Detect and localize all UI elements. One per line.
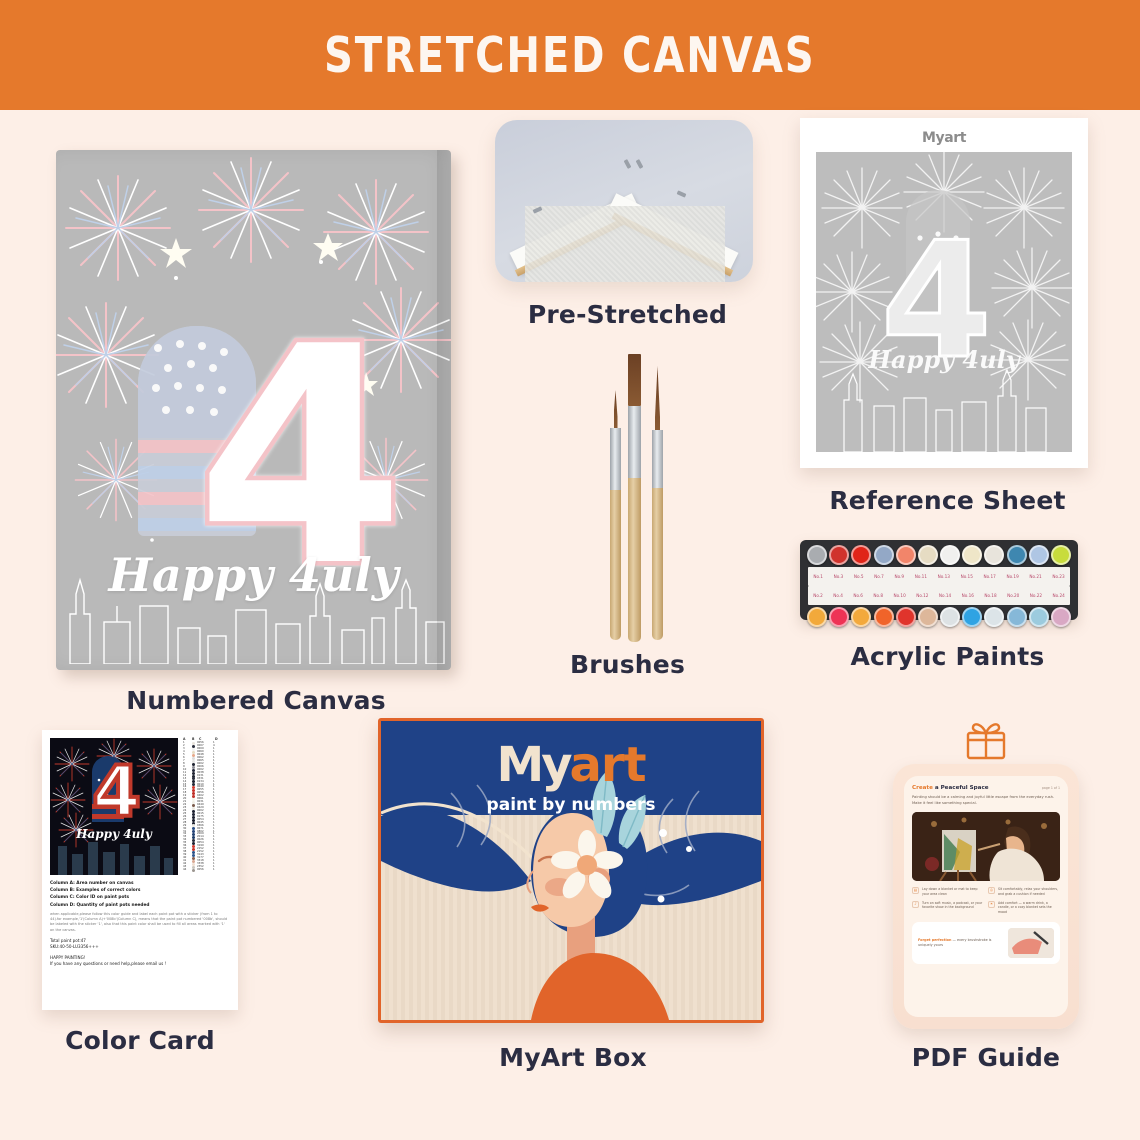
paint-label: No.20 bbox=[1007, 593, 1019, 598]
gift-icon bbox=[962, 718, 1010, 760]
color-card-image: 4 Happy 4uly A B C D 1005612000743000914… bbox=[42, 730, 238, 1010]
color-card-caption: Color Card bbox=[42, 1026, 238, 1055]
tip-icon: ◎ bbox=[988, 887, 995, 894]
paint-label: No.4 bbox=[833, 593, 843, 598]
paint-label: No.17 bbox=[984, 574, 996, 579]
staple-icon bbox=[677, 190, 687, 197]
tip-icon: ♪ bbox=[912, 901, 919, 908]
paint-label: No.9 bbox=[894, 574, 904, 579]
paint-label: No.10 bbox=[893, 593, 905, 598]
pdf-guide-caption: PDF Guide bbox=[893, 1043, 1079, 1072]
reference-sheet-caption: Reference Sheet bbox=[800, 486, 1095, 515]
numbered-canvas-item[interactable]: 4 Happy 4uly bbox=[56, 150, 456, 680]
myart-box-image: Myart paint by numbers bbox=[378, 718, 764, 1023]
cell-quantity: 1 bbox=[213, 869, 215, 872]
pre-stretched-image bbox=[495, 120, 753, 282]
pdf-guide-item[interactable]: Create a Peaceful Space page 1 of 1 Pain… bbox=[893, 718, 1103, 1088]
color-card-greeting: Happy 4uly bbox=[50, 827, 178, 841]
paint-row-bottom bbox=[804, 607, 1074, 627]
pdf-tip-item: ◎Sit comfortably, relax your shoulders, … bbox=[988, 887, 1060, 896]
cell-color-swatch bbox=[192, 869, 195, 872]
pdf-heading-accent: Create bbox=[912, 785, 933, 791]
paint-pot[interactable] bbox=[1051, 545, 1071, 565]
reference-sheet-logo: Myart bbox=[816, 130, 1072, 146]
paint-tray-image: No.1No.3No.5No.7No.9No.11No.13No.15No.17… bbox=[800, 540, 1078, 620]
paint-label: No.8 bbox=[873, 593, 883, 598]
paint-pot[interactable] bbox=[1007, 545, 1027, 565]
paint-pot[interactable] bbox=[1029, 545, 1049, 565]
paint-label: No.16 bbox=[962, 593, 974, 598]
paint-label: No.22 bbox=[1030, 593, 1042, 598]
color-card-table: A B C D 10056120007430009140060150048160… bbox=[183, 738, 230, 875]
paint-label: No.15 bbox=[961, 574, 973, 579]
paint-pot[interactable] bbox=[851, 607, 871, 627]
legend-line-c: Column C: Color ID on paint pots bbox=[50, 895, 129, 900]
paint-pot[interactable] bbox=[984, 607, 1004, 627]
legend-line-a: Column A: Area number on canvas bbox=[50, 881, 134, 886]
paint-label: No.5 bbox=[854, 574, 864, 579]
color-card-table-head: A B C D bbox=[183, 738, 230, 741]
legend-line-b: Column B: Examples of correct colors bbox=[50, 888, 140, 893]
paint-label: No.24 bbox=[1053, 593, 1065, 598]
tip-icon: ☀ bbox=[988, 901, 995, 908]
col-header-d: D bbox=[215, 738, 218, 741]
paint-pot[interactable] bbox=[918, 607, 938, 627]
legend-line-d: Column D: Quantity of paint pots needed bbox=[50, 903, 149, 908]
myart-logo: Myart paint by numbers bbox=[381, 737, 761, 815]
brush-small bbox=[610, 390, 621, 640]
logo-art-text: art bbox=[570, 737, 646, 793]
pdf-footer-note: Forget perfection — every brushstroke is… bbox=[912, 922, 1060, 964]
color-card-row: 4400561 bbox=[183, 869, 230, 872]
pdf-tips-grid: ▤Lay down a blanket or mat to keep your … bbox=[912, 887, 1060, 914]
product-grid: 4 Happy 4uly bbox=[0, 110, 1140, 1140]
paint-pot[interactable] bbox=[1051, 607, 1071, 627]
pdf-heading-rest: a Peaceful Space bbox=[935, 785, 989, 791]
paint-label: No.7 bbox=[874, 574, 884, 579]
myart-box-item[interactable]: Myart paint by numbers MyArt Box bbox=[378, 718, 768, 1088]
brush-flat bbox=[628, 354, 641, 642]
myart-box-caption: MyArt Box bbox=[378, 1043, 768, 1072]
reference-sheet-greeting: Happy 4uly bbox=[816, 345, 1072, 374]
pre-stretched-item[interactable]: Pre-Stretched bbox=[495, 120, 760, 320]
paint-pot[interactable] bbox=[829, 545, 849, 565]
pdf-guide-image: Create a Peaceful Space page 1 of 1 Pain… bbox=[893, 764, 1079, 1029]
paint-pot[interactable] bbox=[874, 607, 894, 627]
paint-label: No.2 bbox=[813, 593, 823, 598]
skyline-motif bbox=[56, 544, 451, 664]
paint-pot[interactable] bbox=[1029, 607, 1049, 627]
color-card-artwork: 4 Happy 4uly bbox=[50, 738, 178, 875]
tip-text: Lay down a blanket or mat to keep your a… bbox=[922, 887, 984, 896]
color-card-note: when applicable,please follow this color… bbox=[50, 912, 230, 933]
pdf-page-label: page 1 of 1 bbox=[1042, 786, 1060, 790]
brush-liner bbox=[652, 366, 663, 640]
myart-tagline: paint by numbers bbox=[381, 795, 761, 815]
tip-text: Sit comfortably, relax your shoulders, a… bbox=[998, 887, 1060, 896]
paint-pot[interactable] bbox=[829, 607, 849, 627]
paint-label-strip-top: No.1No.3No.5No.7No.9No.11No.13No.15No.17… bbox=[808, 567, 1070, 586]
brushes-image bbox=[500, 340, 755, 640]
paint-pot[interactable] bbox=[918, 545, 938, 565]
paint-row-top bbox=[804, 545, 1074, 565]
color-card-item[interactable]: 4 Happy 4uly A B C D 1005612000743000914… bbox=[42, 730, 272, 1090]
color-card-number: 4 bbox=[92, 757, 141, 827]
paint-pot[interactable] bbox=[896, 545, 916, 565]
pdf-body-text: Painting should be a calming and joyful … bbox=[912, 795, 1060, 806]
paint-pot[interactable] bbox=[807, 545, 827, 565]
pdf-photo bbox=[912, 812, 1060, 881]
pre-stretched-caption: Pre-Stretched bbox=[495, 300, 760, 329]
paint-label: No.11 bbox=[915, 574, 927, 579]
paint-pot[interactable] bbox=[874, 545, 894, 565]
pdf-footer-image bbox=[1008, 928, 1054, 958]
pdf-tip-item: ☀Add comfort — a warm drink, a candle, o… bbox=[988, 901, 1060, 915]
paint-pot[interactable] bbox=[1007, 607, 1027, 627]
tip-text: Turn on soft music, a podcast, or your f… bbox=[922, 901, 984, 915]
paint-label: No.18 bbox=[984, 593, 996, 598]
paint-pot[interactable] bbox=[807, 607, 827, 627]
paint-label: No.12 bbox=[916, 593, 928, 598]
reference-sheet-item[interactable]: Myart bbox=[800, 118, 1095, 498]
reference-sheet-image: Myart bbox=[800, 118, 1088, 468]
paint-pot[interactable] bbox=[940, 607, 960, 627]
paint-pot[interactable] bbox=[962, 607, 982, 627]
paint-label: No.23 bbox=[1052, 574, 1064, 579]
paint-label: No.14 bbox=[939, 593, 951, 598]
pdf-footer-accent: Forget perfection bbox=[918, 938, 951, 942]
paint-label: No.19 bbox=[1006, 574, 1018, 579]
paint-pot[interactable] bbox=[851, 545, 871, 565]
numbered-canvas-caption: Numbered Canvas bbox=[56, 686, 456, 715]
acrylic-paints-caption: Acrylic Paints bbox=[800, 642, 1095, 671]
paint-label: No.21 bbox=[1029, 574, 1041, 579]
logo-my-text: My bbox=[496, 737, 569, 793]
paint-pot[interactable] bbox=[962, 545, 982, 565]
color-card-legend: Column A: Area number on canvas Column B… bbox=[50, 880, 230, 909]
paint-label: No.3 bbox=[834, 574, 844, 579]
tip-icon: ▤ bbox=[912, 887, 919, 894]
numbered-canvas-image: 4 Happy 4uly bbox=[56, 150, 451, 670]
staple-icon bbox=[636, 159, 644, 169]
pdf-tip-item: ▤Lay down a blanket or mat to keep your … bbox=[912, 887, 984, 896]
page-title: STRETCHED CANVAS bbox=[324, 27, 816, 84]
paint-label: No.6 bbox=[853, 593, 863, 598]
cell-area-number: 44 bbox=[183, 869, 190, 872]
cell-color-id: 0056 bbox=[197, 869, 211, 872]
brushes-caption: Brushes bbox=[500, 650, 755, 679]
color-card-sku: SKU:40-50-LU3356+++ bbox=[50, 944, 230, 950]
page-header: STRETCHED CANVAS bbox=[0, 0, 1140, 110]
paint-label-strip-bottom: No.2No.4No.6No.8No.10No.12No.14No.16No.1… bbox=[808, 586, 1070, 605]
pdf-heading-row: Create a Peaceful Space page 1 of 1 bbox=[912, 785, 1060, 791]
paint-pot[interactable] bbox=[984, 545, 1004, 565]
staple-icon bbox=[624, 159, 632, 169]
color-card-contact: If you have any questions or need help,p… bbox=[50, 961, 230, 967]
tip-text: Add comfort — a warm drink, a candle, or… bbox=[998, 901, 1060, 915]
paint-label: No.1 bbox=[813, 574, 823, 579]
pdf-tip-item: ♪Turn on soft music, a podcast, or your … bbox=[912, 901, 984, 915]
reference-sheet-art: 4 Happy 4uly bbox=[816, 152, 1072, 452]
paint-pot[interactable] bbox=[940, 545, 960, 565]
paint-pot[interactable] bbox=[896, 607, 916, 627]
paint-label: No.13 bbox=[938, 574, 950, 579]
